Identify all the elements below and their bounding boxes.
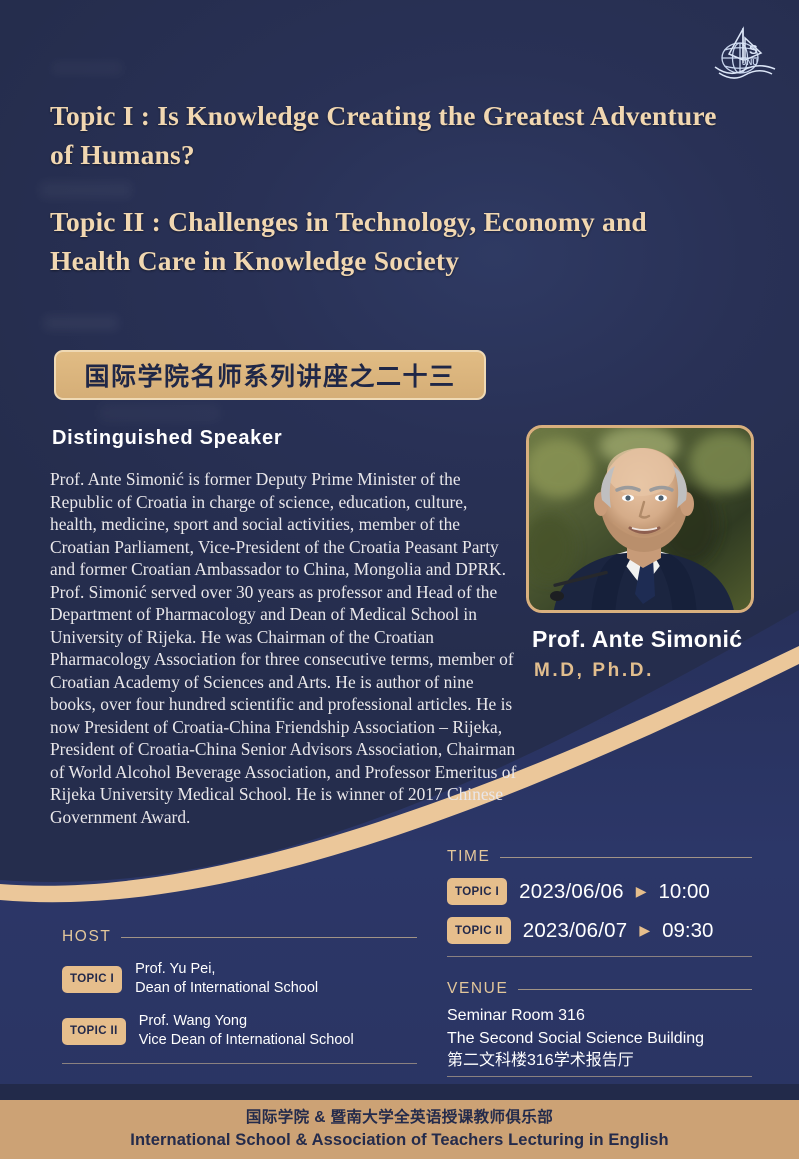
speaker-biography: Prof. Ante Simonić is former Deputy Prim… (50, 468, 518, 829)
host-title: Dean of International School (135, 980, 318, 996)
footer-english-line: International School & Association of Te… (130, 1129, 668, 1151)
arrow-icon: ▶ (639, 922, 650, 939)
venue-lines: Seminar Room 316 The Second Social Scien… (447, 1005, 752, 1073)
time-date: 2023/06/06 (519, 880, 624, 904)
time-value: 10:00 (659, 880, 710, 904)
background-artifact (44, 316, 118, 330)
speaker-degrees: M.D, Ph.D. (534, 660, 654, 682)
footer-chinese-line: 国际学院 & 暨南大学全英语授课教师俱乐部 (246, 1108, 553, 1129)
background-artifact (100, 405, 220, 421)
svg-text:JNU: JNU (742, 58, 758, 67)
venue-line: 第二文科楼316学术报告厅 (447, 1050, 752, 1073)
poster-titles: Topic I : Is Knowledge Creating the Grea… (50, 96, 730, 280)
series-banner: 国际学院名师系列讲座之二十三 (54, 350, 486, 400)
time-section-underline (447, 956, 752, 957)
topic-1-title: Topic I : Is Knowledge Creating the Grea… (50, 96, 730, 174)
speaker-name: Prof. Ante Simonić (532, 626, 742, 653)
speaker-photo-frame (526, 425, 754, 613)
host-person: Prof. Wang Yong Vice Dean of Internation… (139, 1012, 354, 1050)
venue-section-underline (447, 1076, 752, 1077)
time-label: TIME (447, 848, 490, 866)
topic-2-title: Topic II : Challenges in Technology, Eco… (50, 202, 730, 280)
venue-line: The Second Social Science Building (447, 1028, 752, 1051)
time-topic-badge: TOPIC I (447, 878, 507, 905)
is-jnu-logo-icon: S JNU (709, 20, 781, 84)
host-section: HOST TOPIC I Prof. Yu Pei, Dean of Inter… (62, 928, 417, 1064)
lecture-poster: S JNU Topic I : Is Knowledge Creating th… (0, 0, 799, 1159)
host-row: TOPIC I Prof. Yu Pei, Dean of Internatio… (62, 960, 417, 998)
venue-section: VENUE Seminar Room 316 The Second Social… (447, 980, 752, 1077)
venue-header-rule (518, 989, 752, 990)
venue-line: Seminar Room 316 (447, 1005, 752, 1028)
venue-section-header: VENUE (447, 980, 752, 998)
speaker-photo (529, 428, 751, 610)
host-row: TOPIC II Prof. Wang Yong Vice Dean of In… (62, 1012, 417, 1050)
time-rows: TOPIC I 2023/06/06 ▶ 10:00 TOPIC II 2023… (447, 878, 752, 944)
host-label: HOST (62, 928, 111, 946)
background-artifact (52, 62, 122, 74)
speaker-portrait-image (529, 428, 751, 610)
arrow-icon: ▶ (636, 883, 647, 900)
host-rows: TOPIC I Prof. Yu Pei, Dean of Internatio… (62, 960, 417, 1051)
time-row: TOPIC II 2023/06/07 ▶ 09:30 (447, 917, 752, 944)
time-section: TIME TOPIC I 2023/06/06 ▶ 10:00 TOPIC II… (447, 848, 752, 957)
time-topic-badge: TOPIC II (447, 917, 511, 944)
time-header-rule (500, 857, 752, 858)
footer-bar: 国际学院 & 暨南大学全英语授课教师俱乐部 International Scho… (0, 1100, 799, 1159)
host-name: Prof. Wang Yong (139, 1013, 247, 1029)
host-topic-badge: TOPIC I (62, 966, 122, 993)
host-section-underline (62, 1063, 417, 1064)
time-value: 09:30 (662, 919, 713, 943)
series-banner-label: 国际学院名师系列讲座之二十三 (84, 357, 455, 393)
venue-label: VENUE (447, 980, 508, 998)
distinguished-speaker-label: Distinguished Speaker (52, 427, 282, 450)
host-header-rule (121, 937, 417, 938)
footer-strip (0, 1084, 799, 1100)
host-topic-badge: TOPIC II (62, 1018, 126, 1045)
host-person: Prof. Yu Pei, Dean of International Scho… (135, 960, 318, 998)
time-section-header: TIME (447, 848, 752, 866)
host-title: Vice Dean of International School (139, 1032, 354, 1048)
host-name: Prof. Yu Pei, (135, 961, 215, 977)
time-row: TOPIC I 2023/06/06 ▶ 10:00 (447, 878, 752, 905)
time-date: 2023/06/07 (523, 919, 628, 943)
host-section-header: HOST (62, 928, 417, 946)
svg-text:S: S (749, 42, 758, 57)
